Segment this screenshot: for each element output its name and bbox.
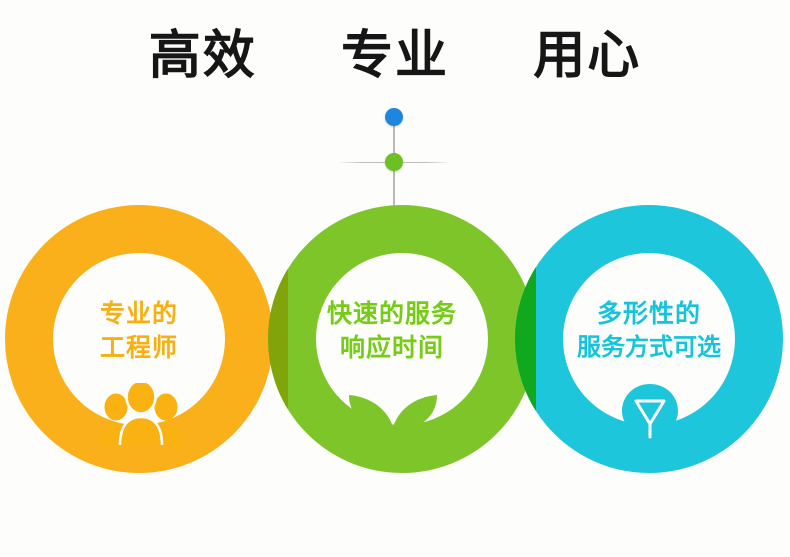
- venn-rings-group: [0, 0, 790, 557]
- infographic-canvas: 高效 专业 用心 专业的 工程师: [0, 0, 790, 557]
- team-people-icon: [95, 383, 187, 445]
- circle-label-response-time: 快速的服务 响应时间: [297, 297, 487, 364]
- circle2-line1: 快速的服务: [297, 297, 487, 331]
- sprout-leaf-icon: [343, 383, 443, 453]
- circle1-line2: 工程师: [44, 331, 234, 365]
- circle1-line1: 专业的: [44, 297, 234, 331]
- circle3-line1: 多形性的: [554, 297, 744, 331]
- circle3-line2: 服务方式可选: [554, 331, 744, 363]
- circle2-line2: 响应时间: [297, 331, 487, 365]
- circle-label-engineers: 专业的 工程师: [44, 297, 234, 364]
- lightbulb-icon: [614, 382, 686, 454]
- circle-label-service-options: 多形性的 服务方式可选: [554, 297, 744, 363]
